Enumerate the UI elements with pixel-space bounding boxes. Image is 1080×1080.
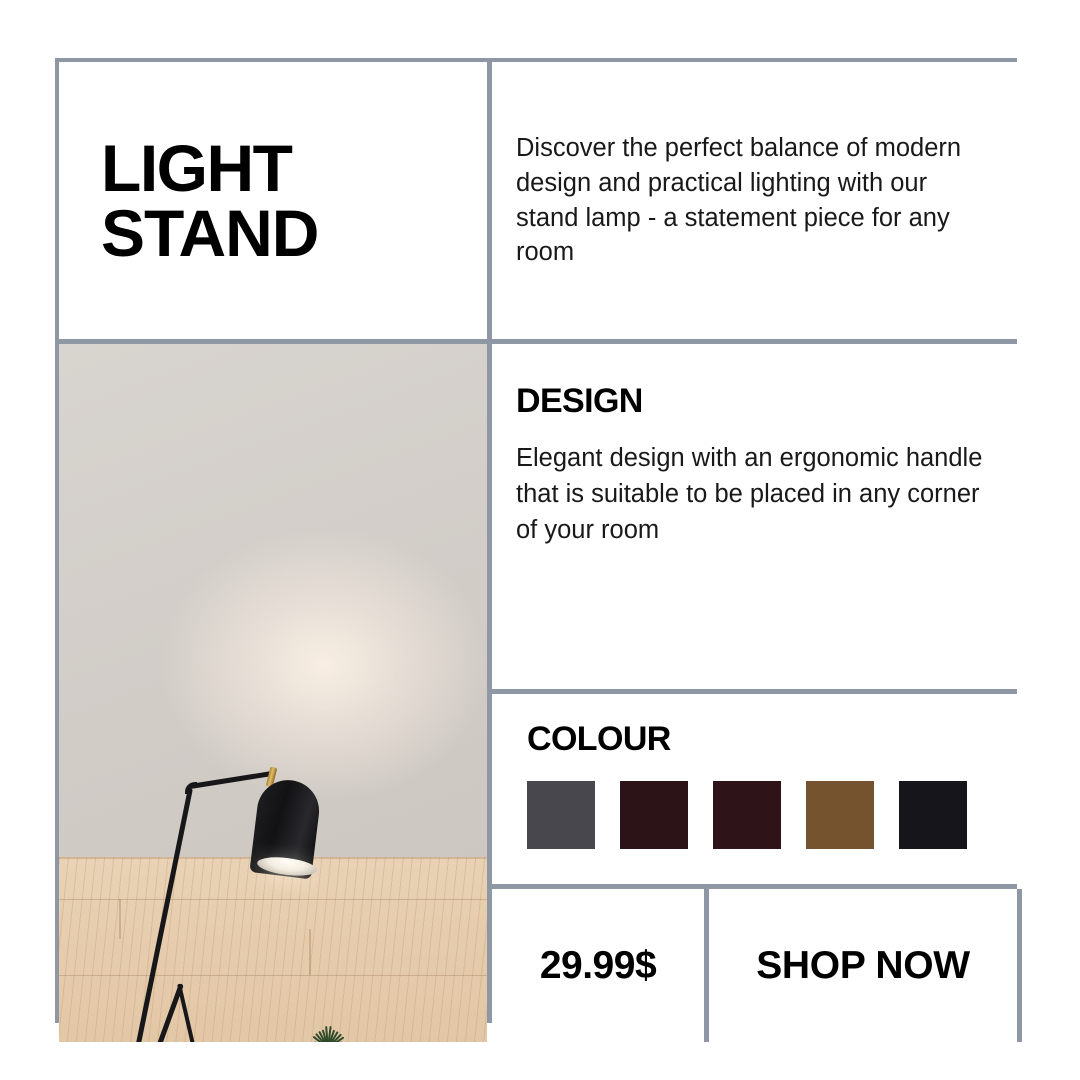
title-line-2: STAND <box>101 201 318 266</box>
product-photo-scene <box>59 344 487 1042</box>
design-text: Elegant design with an ergonomic handle … <box>516 440 996 549</box>
colour-swatch-deep-plum[interactable] <box>620 781 688 849</box>
product-poster: LIGHT STAND Discover the perfect balance… <box>55 58 1017 1023</box>
colour-swatch-walnut-brown[interactable] <box>806 781 874 849</box>
colour-swatch-list <box>527 781 1022 849</box>
price-value: 29.99$ <box>540 944 656 988</box>
title-cell: LIGHT STAND <box>59 62 487 339</box>
colour-swatch-midnight-black[interactable] <box>899 781 967 849</box>
wood-floor <box>59 857 487 1042</box>
title-line-1: LIGHT <box>101 136 318 201</box>
shop-now-label: SHOP NOW <box>756 944 970 988</box>
page-title: LIGHT STAND <box>101 136 318 265</box>
shop-now-button[interactable]: SHOP NOW <box>709 889 1017 1042</box>
colour-heading: COLOUR <box>527 720 1022 759</box>
design-section: DESIGN Elegant design with an ergonomic … <box>492 344 1022 689</box>
intro-text: Discover the perfect balance of modern d… <box>516 131 996 270</box>
colour-section: COLOUR <box>492 694 1022 884</box>
succulent-plant <box>302 1014 354 1042</box>
colour-swatch-dark-maroon[interactable] <box>713 781 781 849</box>
colour-swatch-slate-grey[interactable] <box>527 781 595 849</box>
purchase-bar: 29.99$ SHOP NOW <box>492 889 1022 1042</box>
product-image <box>59 344 487 1042</box>
intro-cell: Discover the perfect balance of modern d… <box>492 62 1022 339</box>
price-cell: 29.99$ <box>492 889 704 1042</box>
design-heading: DESIGN <box>516 382 996 421</box>
